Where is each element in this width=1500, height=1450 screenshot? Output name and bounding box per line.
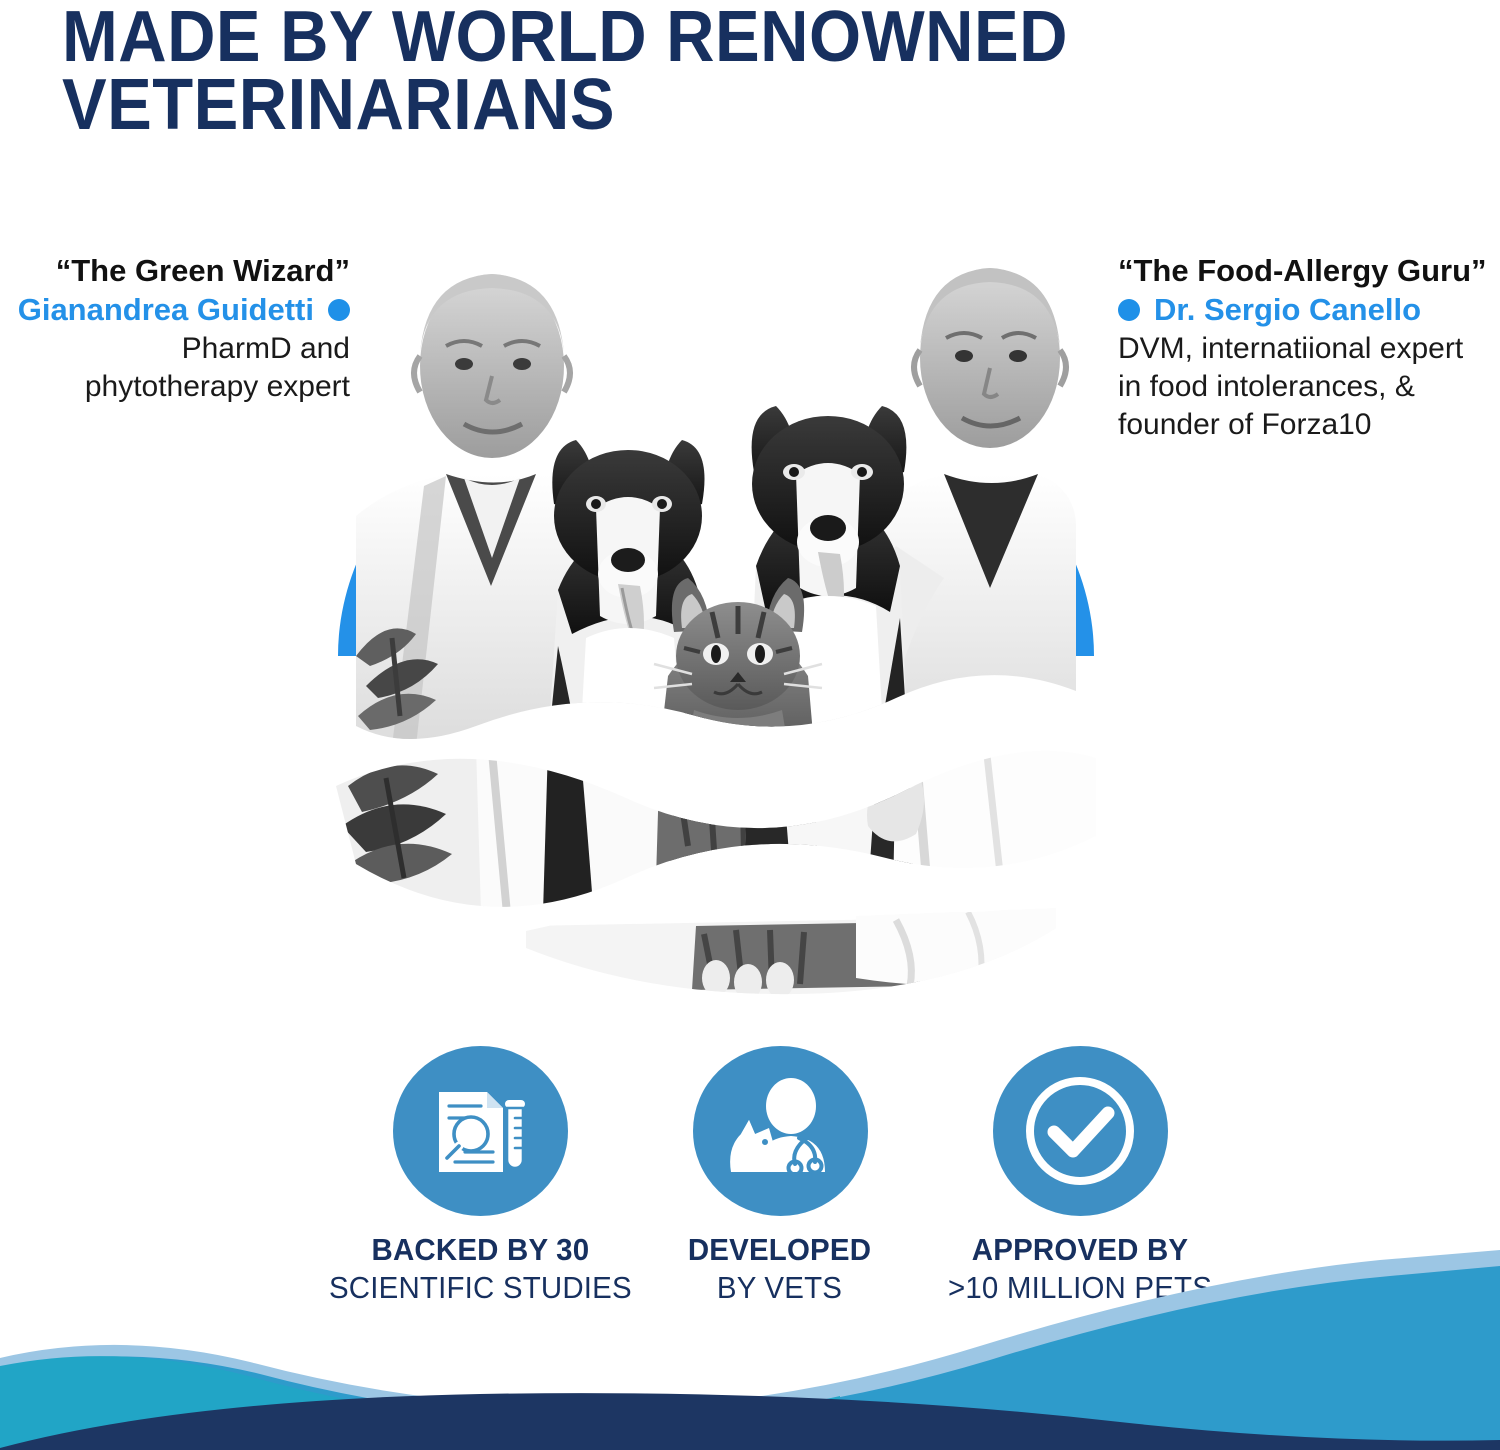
hero-photo-composition — [296, 186, 1136, 1006]
expert-right-nickname: “The Food-Allergy Guru” — [1118, 252, 1498, 291]
headline-line-2: VETERINARIANS — [62, 72, 1178, 140]
headline-line-1: MADE BY WORLD RENOWNED — [62, 4, 1178, 72]
badge-circle — [693, 1046, 868, 1216]
hero-photo-slice-3 — [496, 876, 1096, 1006]
badge-circle — [393, 1046, 568, 1216]
expert-right-name: Dr. Sergio Canello — [1154, 291, 1421, 330]
expert-right-role-line-3: founder of Forza10 — [1118, 406, 1498, 444]
expert-caption-right: “The Food-Allergy Guru” Dr. Sergio Canel… — [1118, 252, 1498, 445]
expert-right-role-line-1: DVM, internatiional expert — [1118, 330, 1498, 368]
cat-figure — [654, 578, 822, 746]
badge-circle — [993, 1046, 1168, 1216]
expert-right-name-row: Dr. Sergio Canello — [1118, 291, 1498, 330]
expert-right-role-line-2: in food intolerances, & — [1118, 368, 1498, 406]
expert-left-name: Gianandrea Guidetti — [18, 291, 314, 330]
vet-with-dog-icon — [721, 1076, 839, 1186]
footer-wave-decoration — [0, 1250, 1500, 1450]
checkmark-circle-icon — [1018, 1069, 1142, 1193]
document-magnifier-testtube-icon — [425, 1076, 535, 1186]
page-title: MADE BY WORLD RENOWNED VETERINARIANS — [62, 4, 1178, 139]
promo-graphic: MADE BY WORLD RENOWNED VETERINARIANS “Th… — [0, 0, 1500, 1450]
